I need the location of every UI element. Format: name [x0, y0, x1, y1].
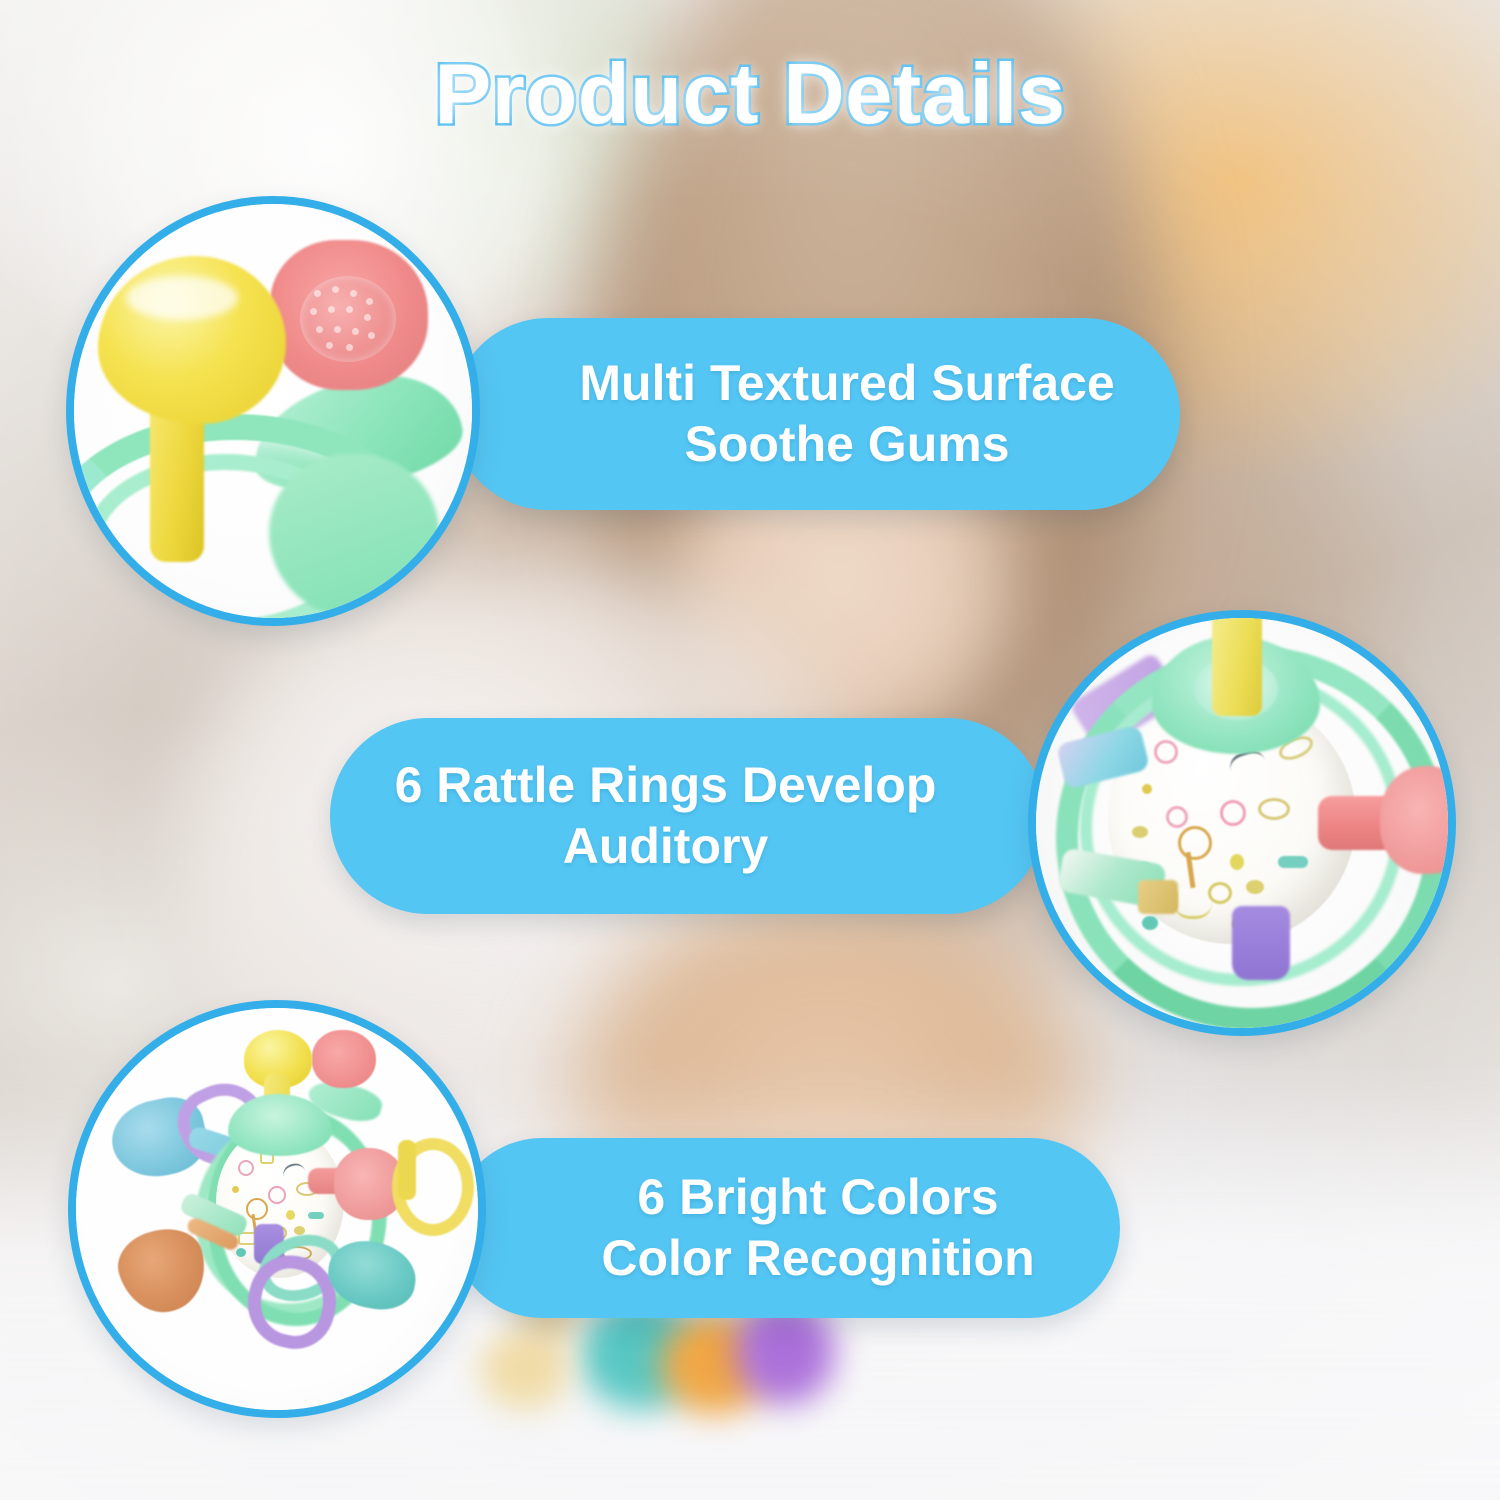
feature-pill-3-label: 6 Bright Colors Color Recognition — [511, 1167, 1060, 1289]
feature-pill-3: 6 Bright Colors Color Recognition — [452, 1138, 1120, 1318]
feature-pill-1: Multi Textured Surface Soothe Gums — [452, 318, 1180, 510]
rattle-pink-flower — [1380, 766, 1456, 874]
feature-photo-1 — [66, 196, 480, 626]
feature-photo-2-content — [1036, 618, 1448, 1028]
feature-pill-2: 6 Rattle Rings Develop Auditory — [330, 718, 1045, 914]
page-title: Product Details — [0, 46, 1500, 144]
feature-photo-3-content — [76, 1008, 478, 1410]
feature-pill-2-label: 6 Rattle Rings Develop Auditory — [369, 755, 1007, 877]
rattle-yellow-stick — [1212, 610, 1262, 716]
rattle-purple-stub — [1232, 906, 1290, 980]
feature-pill-1-label: Multi Textured Surface Soothe Gums — [491, 353, 1140, 475]
feature-photo-2 — [1028, 610, 1456, 1036]
toy-yellow-bar — [398, 1140, 416, 1200]
toy-pink-sunflower — [312, 1030, 376, 1088]
rattle-gold-stub — [1138, 880, 1178, 914]
teether-yellow-highlight — [126, 276, 238, 320]
teether-pink-flower-core — [300, 276, 396, 362]
feature-photo-3 — [68, 1000, 486, 1418]
product-details-infographic: Product Details Multi Textured Surface S… — [0, 0, 1500, 1500]
feature-photo-1-content — [74, 204, 472, 618]
